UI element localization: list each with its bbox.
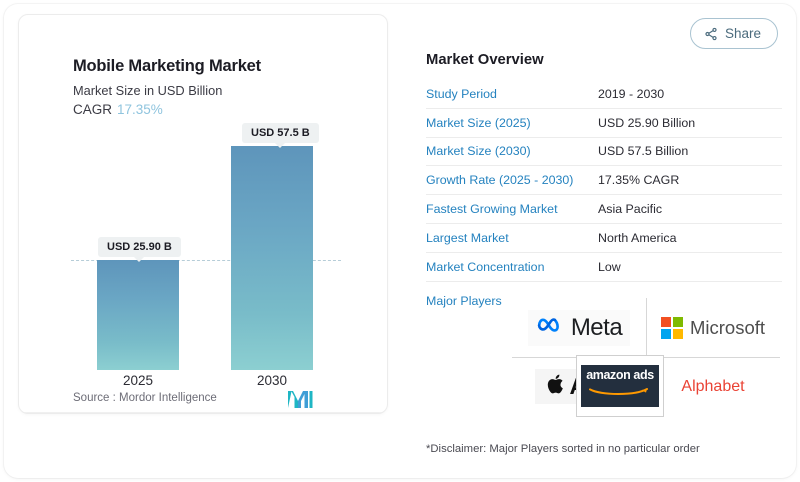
share-icon <box>704 27 718 41</box>
amazon-swoosh-icon <box>589 383 651 401</box>
row-value: Low <box>598 260 782 274</box>
row-key: Largest Market <box>426 231 598 245</box>
player-cell-amazon-ads: amazon ads <box>576 355 664 417</box>
mordor-intelligence-logo-icon <box>287 389 313 409</box>
meta-infinity-icon <box>536 316 566 340</box>
bar-label-2025: USD 25.90 B <box>98 237 181 257</box>
microsoft-squares-icon <box>661 317 683 339</box>
table-row: Market Size (2025) USD 25.90 Billion <box>426 109 782 138</box>
row-value: 2019 - 2030 <box>598 87 782 101</box>
bar-2030[interactable] <box>231 146 313 370</box>
amazon-ads-logo: amazon ads <box>581 365 659 407</box>
table-row: Study Period 2019 - 2030 <box>426 80 782 109</box>
disclaimer-text: *Disclaimer: Major Players sorted in no … <box>426 443 700 455</box>
row-value: 17.35% CAGR <box>598 173 782 187</box>
report-infographic: Share Mobile Marketing Market Market Siz… <box>0 0 800 482</box>
bar-chart-plot: USD 25.90 B USD 57.5 B 2025 2030 <box>19 15 388 414</box>
row-key: Growth Rate (2025 - 2030) <box>426 173 598 187</box>
bar-2025[interactable] <box>97 260 179 370</box>
row-value: USD 57.5 Billion <box>598 144 782 158</box>
meta-logo: Meta <box>528 310 630 346</box>
player-cell-microsoft: Microsoft <box>646 298 780 357</box>
share-button[interactable]: Share <box>690 18 778 49</box>
player-cell-meta: Meta <box>512 298 646 357</box>
row-value: North America <box>598 231 782 245</box>
x-axis-label-2025: 2025 <box>97 373 179 388</box>
table-row: Market Concentration Low <box>426 253 782 282</box>
card-footer-divider <box>19 412 388 413</box>
bar-label-2030: USD 57.5 B <box>242 123 319 143</box>
row-key: Market Size (2030) <box>426 144 598 158</box>
meta-logo-text: Meta <box>571 314 622 342</box>
major-players-label: Major Players <box>426 294 502 308</box>
player-cell-alphabet: Alphabet <box>646 357 780 416</box>
row-key: Study Period <box>426 87 598 101</box>
row-key: Fastest Growing Market <box>426 202 598 216</box>
table-row: Market Size (2030) USD 57.5 Billion <box>426 138 782 167</box>
row-value: USD 25.90 Billion <box>598 116 782 130</box>
row-key: Market Size (2025) <box>426 116 598 130</box>
apple-icon <box>547 374 564 399</box>
chart-card: Mobile Marketing Market Market Size in U… <box>18 14 388 414</box>
microsoft-logo: Microsoft <box>661 317 765 339</box>
table-row: Fastest Growing Market Asia Pacific <box>426 195 782 224</box>
alphabet-logo-text: Alphabet <box>681 378 744 396</box>
amazon-ads-logo-text: amazon ads <box>586 369 654 382</box>
x-axis-label-2030: 2030 <box>231 373 313 388</box>
microsoft-logo-text: Microsoft <box>690 317 765 339</box>
market-overview-title: Market Overview <box>426 52 544 68</box>
source-text: Source : Mordor Intelligence <box>73 392 217 404</box>
row-value: Asia Pacific <box>598 202 782 216</box>
share-button-label: Share <box>725 26 761 41</box>
table-row: Growth Rate (2025 - 2030) 17.35% CAGR <box>426 166 782 195</box>
table-row: Largest Market North America <box>426 224 782 253</box>
market-overview-table: Study Period 2019 - 2030 Market Size (20… <box>426 80 782 282</box>
row-key: Market Concentration <box>426 260 598 274</box>
